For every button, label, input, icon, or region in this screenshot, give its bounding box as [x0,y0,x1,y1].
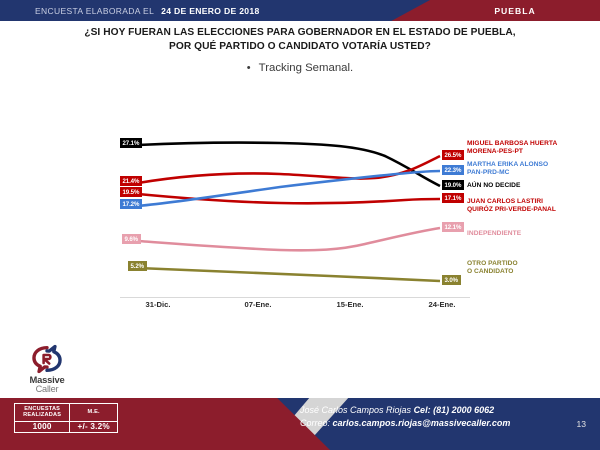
header-state-label: PUEBLA [430,0,600,21]
title-line-2: POR QUÉ PARTIDO O CANDIDATO VOTARÍA USTE… [0,40,600,54]
value-margin-error: +/- 3.2% [70,421,118,432]
legend-sub-otro-partido: O CANDIDATO [467,268,518,276]
legend-name-aun-no-decide: AÚN NO DECIDE [467,182,520,190]
start-label-aun-no-decide: 27.1% [120,138,142,148]
contact-name: José Carlos Campos Riojas [300,405,411,415]
legend-sub-miguel-barbosa: MORENA-PES-PT [467,148,557,156]
footer-contact-line-1: José Carlos Campos Riojas Cel: (81) 2000… [300,404,550,417]
end-label-juan-carlos-lastiri: 17.1% [442,193,464,203]
header-pre-label: ENCUESTA ELABORADA EL [35,6,154,16]
legend-item-aun-no-decide: AÚN NO DECIDE [467,182,520,190]
legend-item-miguel-barbosa: MIGUEL BARBOSA HUERTA MORENA-PES-PT [467,140,557,156]
contact-mail: carlos.campos.riojas@massivecaller.com [333,418,511,428]
page-number: 13 [576,419,586,429]
table-row: ENCUESTAS REALIZADAS M.E. [15,404,118,422]
legend-sub-juan-carlos-lastiri: QUIRÓZ PRI-VERDE-PANAL [467,206,556,214]
slide-header: ENCUESTA ELABORADA EL 24 DE ENERO DE 201… [0,0,600,21]
title-line-1: ¿SI HOY FUERAN LAS ELECCIONES PARA GOBER… [0,26,600,40]
start-label-juan-carlos-lastiri: 19.5% [120,187,142,197]
subtitle-text: Tracking Semanal. [259,62,354,74]
x-axis-labels: 31-Dic. 07-Ene. 15-Ene. 24-Ene. [120,300,480,316]
start-label-martha-erika-alonso: 17.2% [120,199,142,209]
legend-item-juan-carlos-lastiri: JUAN CARLOS LASTIRI QUIRÓZ PRI-VERDE-PAN… [467,198,556,214]
bullet-glyph: • [247,62,251,74]
start-label-miguel-barbosa: 21.4% [120,176,142,186]
header-encuestas-line1: ENCUESTAS [24,406,60,412]
legend-item-otro-partido: OTRO PARTIDO O CANDIDATO [467,260,518,276]
footer-contact-line-2: Correo: carlos.campos.riojas@massivecall… [300,417,550,430]
series-line-aun-no-decide [138,143,440,186]
series-line-independiente [138,228,440,250]
legend-name-martha-erika-alonso: MARTHA ERIKA ALONSO [467,161,548,169]
end-label-otro-partido: 3.0% [442,275,461,285]
legend-item-independiente: INDEPENDIENTE [467,230,521,238]
value-sample-size: 1000 [15,421,70,432]
massive-caller-logo: Massive Caller [16,344,78,392]
legend-item-martha-erika-alonso: MARTHA ERIKA ALONSO PAN-PRD-MC [467,161,548,177]
x-tick-2: 15-Ene. [336,300,363,309]
logo-text-caller: Caller [16,385,78,394]
sample-size-table: ENCUESTAS REALIZADAS M.E. 1000 +/- 3.2% [14,403,118,433]
legend-name-otro-partido: OTRO PARTIDO [467,260,518,268]
x-tick-3: 24-Ene. [428,300,455,309]
end-label-miguel-barbosa: 26.5% [442,150,464,160]
x-tick-0: 31-Dic. [146,300,171,309]
page-title: ¿SI HOY FUERAN LAS ELECCIONES PARA GOBER… [0,26,600,74]
contact-mail-label: Correo: [300,418,330,428]
legend-name-juan-carlos-lastiri: JUAN CARLOS LASTIRI [467,198,556,206]
legend-sub-martha-erika-alonso: PAN-PRD-MC [467,169,548,177]
x-tick-1: 07-Ene. [244,300,271,309]
header-margin-error: M.E. [70,404,118,422]
massive-caller-mark-icon [30,344,64,374]
header-encuestas-realizadas: ENCUESTAS REALIZADAS [15,404,70,422]
header-date: 24 DE ENERO DE 2018 [161,6,259,16]
x-axis-rule [120,297,470,298]
end-label-martha-erika-alonso: 22.3% [442,165,464,175]
series-line-otro-partido [138,268,440,281]
header-encuestas-line2: REALIZADAS [23,412,61,418]
subtitle: •Tracking Semanal. [0,62,600,74]
table-row: 1000 +/- 3.2% [15,421,118,432]
start-label-independiente: 9.6% [122,234,141,244]
start-label-otro-partido: 5.2% [128,261,147,271]
end-label-aun-no-decide: 19.0% [442,180,464,190]
contact-phone: Cel: (81) 2000 6062 [414,405,495,415]
footer-contact: José Carlos Campos Riojas Cel: (81) 2000… [300,404,550,430]
header-date-group: ENCUESTA ELABORADA EL 24 DE ENERO DE 201… [35,0,260,21]
legend-name-independiente: INDEPENDIENTE [467,230,521,238]
legend-name-miguel-barbosa: MIGUEL BARBOSA HUERTA [467,140,557,148]
end-label-independiente: 12.1% [442,222,464,232]
